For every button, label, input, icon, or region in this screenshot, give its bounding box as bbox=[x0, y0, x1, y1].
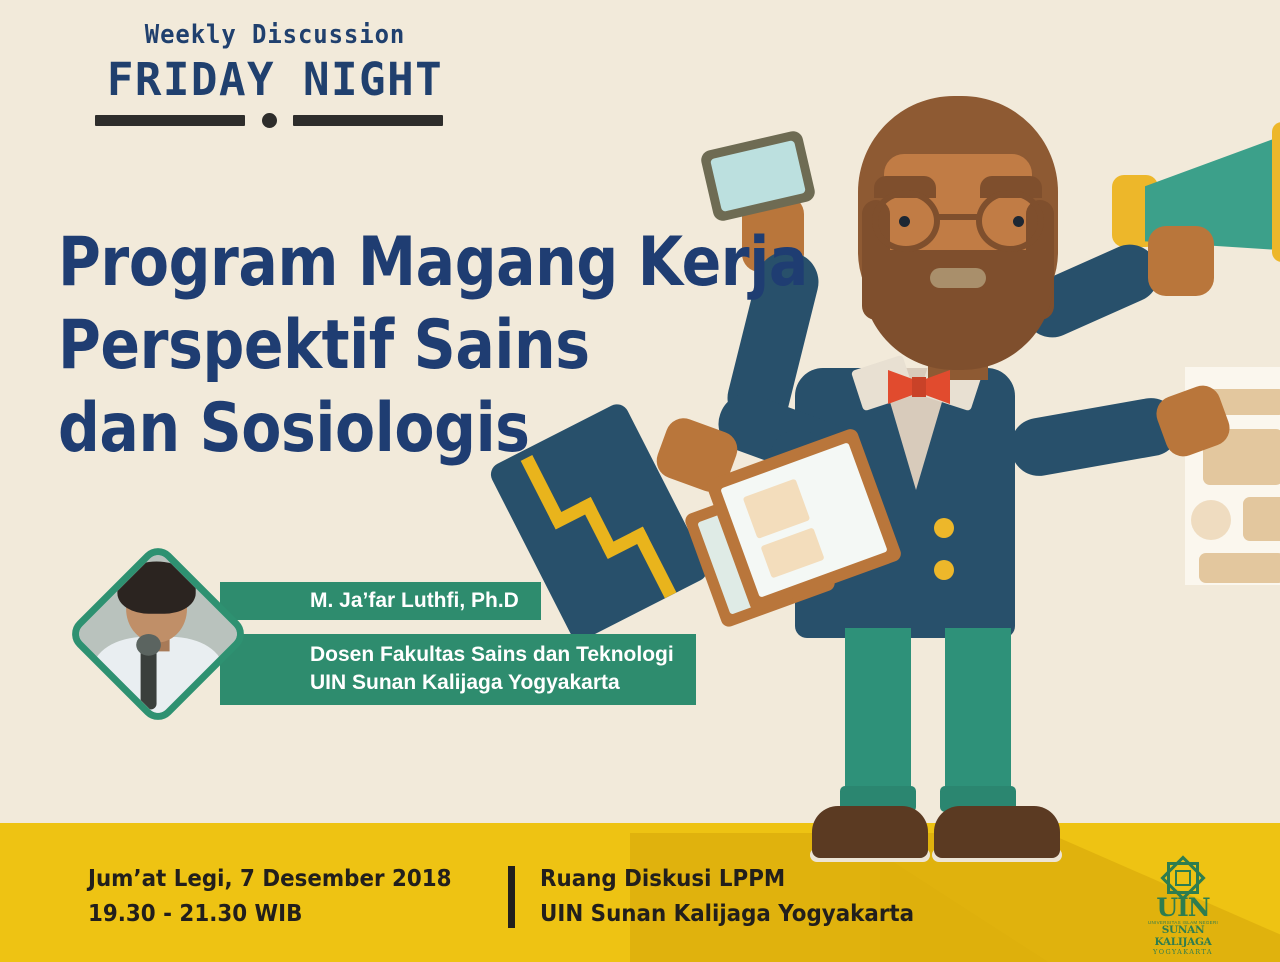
header-eyebrow: Weekly Discussion bbox=[109, 22, 440, 48]
header-series-title: FRIDAY NIGHT bbox=[99, 56, 452, 103]
speaker-role-line-2: UIN Sunan Kalijaga Yogyakarta bbox=[310, 669, 674, 697]
illustration-multitasking-businessman bbox=[0, 0, 1280, 962]
title-line-2: Perspektif Sains bbox=[58, 305, 626, 388]
shoe-left-icon bbox=[812, 806, 928, 858]
footer-date: Jum’at Legi, 7 Desember 2018 bbox=[88, 862, 452, 897]
footer-venue-line-2: UIN Sunan Kalijaga Yogyakarta bbox=[540, 897, 914, 932]
footer-venue: Ruang Diskusi LPPM UIN Sunan Kalijaga Yo… bbox=[540, 862, 942, 932]
event-poster: Weekly Discussion FRIDAY NIGHT Program M… bbox=[0, 0, 1280, 962]
page-title: Program Magang Kerja Perspektif Sains da… bbox=[58, 222, 626, 471]
mouth bbox=[930, 268, 986, 288]
title-line-3: dan Sosiologis bbox=[58, 388, 626, 471]
jacket-button-bottom bbox=[934, 560, 954, 580]
speaker-name-tag: M. Ja’far Luthfi, Ph.D bbox=[220, 582, 541, 620]
hand-upper-right bbox=[1148, 226, 1214, 296]
footer-venue-line-1: Ruang Diskusi LPPM bbox=[540, 862, 914, 897]
logo-city: YOGYAKARTA bbox=[1136, 948, 1230, 956]
logo-star-icon bbox=[1167, 862, 1199, 894]
speaker-block: Dosen Fakultas Sains dan Teknologi UIN S… bbox=[92, 560, 692, 730]
header-divider bbox=[95, 112, 443, 128]
footer-datetime: Jum’at Legi, 7 Desember 2018 19.30 - 21.… bbox=[88, 862, 479, 932]
divider-bar-left bbox=[95, 115, 245, 126]
jacket-button-top bbox=[934, 518, 954, 538]
divider-bar-right bbox=[293, 115, 443, 126]
eye-left bbox=[899, 216, 910, 227]
poster-header: Weekly Discussion FRIDAY NIGHT bbox=[95, 22, 455, 103]
divider-dot-icon bbox=[262, 113, 277, 128]
title-line-1: Program Magang Kerja bbox=[58, 222, 626, 305]
bowtie-icon bbox=[888, 370, 950, 404]
logo-name: SUNAN KALIJAGA bbox=[1136, 925, 1230, 948]
megaphone-rim-icon bbox=[1272, 122, 1280, 262]
shoe-right-icon bbox=[934, 806, 1060, 858]
speaker-role-line-1: Dosen Fakultas Sains dan Teknologi bbox=[310, 641, 674, 669]
footer-divider bbox=[508, 866, 515, 928]
speaker-role-tag: Dosen Fakultas Sains dan Teknologi UIN S… bbox=[220, 634, 696, 705]
footer-time: 19.30 - 21.30 WIB bbox=[88, 897, 452, 932]
uin-logo: UIN UNIVERSITAS ISLAM NEGERI SUNAN KALIJ… bbox=[1136, 862, 1230, 938]
eye-right bbox=[1013, 216, 1024, 227]
